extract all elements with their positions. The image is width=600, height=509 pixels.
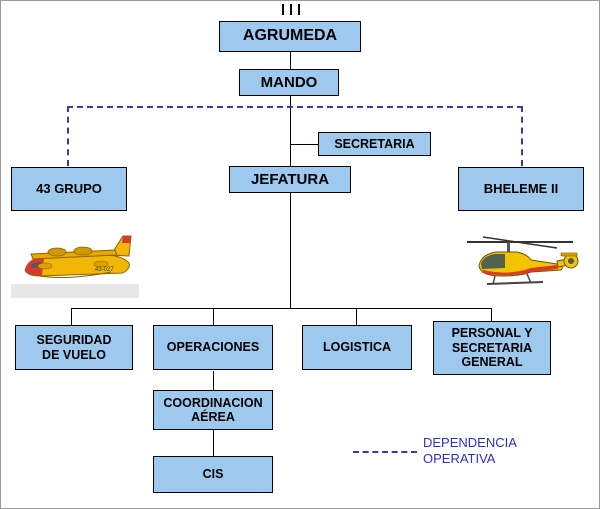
connector-secretaria-stub	[290, 144, 318, 145]
connector-coord-cis	[213, 429, 214, 456]
helicopter-photo	[461, 226, 579, 298]
legend-line1: DEPENDENCIA	[423, 435, 583, 451]
connector-drop-logistica	[356, 308, 357, 325]
connector-drop-seguridad	[71, 308, 72, 325]
svg-text:43-027: 43-027	[95, 267, 114, 273]
diagram-canvas: AGRUMEDA MANDO SECRETARIA JEFATURA 43 GR…	[0, 0, 600, 509]
dashed-link-horizontal	[67, 106, 523, 108]
node-personal-line3: GENERAL	[461, 355, 522, 369]
top-tick-3	[298, 4, 300, 15]
connector-agrumeda-mando	[290, 51, 291, 69]
top-tick-1	[282, 4, 284, 15]
legend-dash-sample	[353, 451, 417, 453]
node-personal-line2: SECRETARIA	[452, 341, 532, 355]
node-operaciones[interactable]: OPERACIONES	[153, 325, 273, 370]
plane-illustration: 43-027	[11, 226, 139, 298]
node-seguridad-line1: SEGURIDAD	[36, 333, 111, 347]
connector-jefatura-down	[290, 192, 291, 308]
node-cis[interactable]: CIS	[153, 456, 273, 493]
node-coord-line2: AÉREA	[191, 410, 235, 424]
dashed-link-left-down	[67, 106, 69, 166]
node-personal-y-secretaria-general[interactable]: PERSONAL Y SECRETARIA GENERAL	[433, 321, 551, 375]
connector-operaciones-coord	[213, 371, 214, 390]
node-logistica[interactable]: LOGISTICA	[302, 325, 412, 370]
node-agrumeda[interactable]: AGRUMEDA	[219, 21, 361, 52]
node-mando[interactable]: MANDO	[239, 69, 339, 96]
legend-text: DEPENDENCIA OPERATIVA	[423, 435, 583, 468]
node-coord-line1: COORDINACION	[163, 396, 262, 410]
node-bheleme-ii[interactable]: BHELEME II	[458, 167, 584, 211]
node-jefatura[interactable]: JEFATURA	[229, 166, 351, 193]
node-grupo-43[interactable]: 43 GRUPO	[11, 167, 127, 211]
helicopter-illustration	[461, 226, 579, 298]
connector-bus	[71, 308, 491, 309]
node-coordinacion-aerea[interactable]: COORDINACION AÉREA	[153, 390, 273, 430]
node-seguridad-line2: DE VUELO	[42, 348, 106, 362]
dashed-link-right-down	[521, 106, 523, 166]
top-tick-2	[290, 4, 292, 15]
connector-drop-operaciones	[213, 308, 214, 325]
legend-line2: OPERATIVA	[423, 451, 583, 467]
node-seguridad-de-vuelo[interactable]: SEGURIDAD DE VUELO	[15, 325, 133, 370]
node-secretaria[interactable]: SECRETARIA	[318, 132, 431, 156]
node-personal-line1: PERSONAL Y	[452, 326, 533, 340]
plane-photo: 43-027	[11, 226, 139, 298]
